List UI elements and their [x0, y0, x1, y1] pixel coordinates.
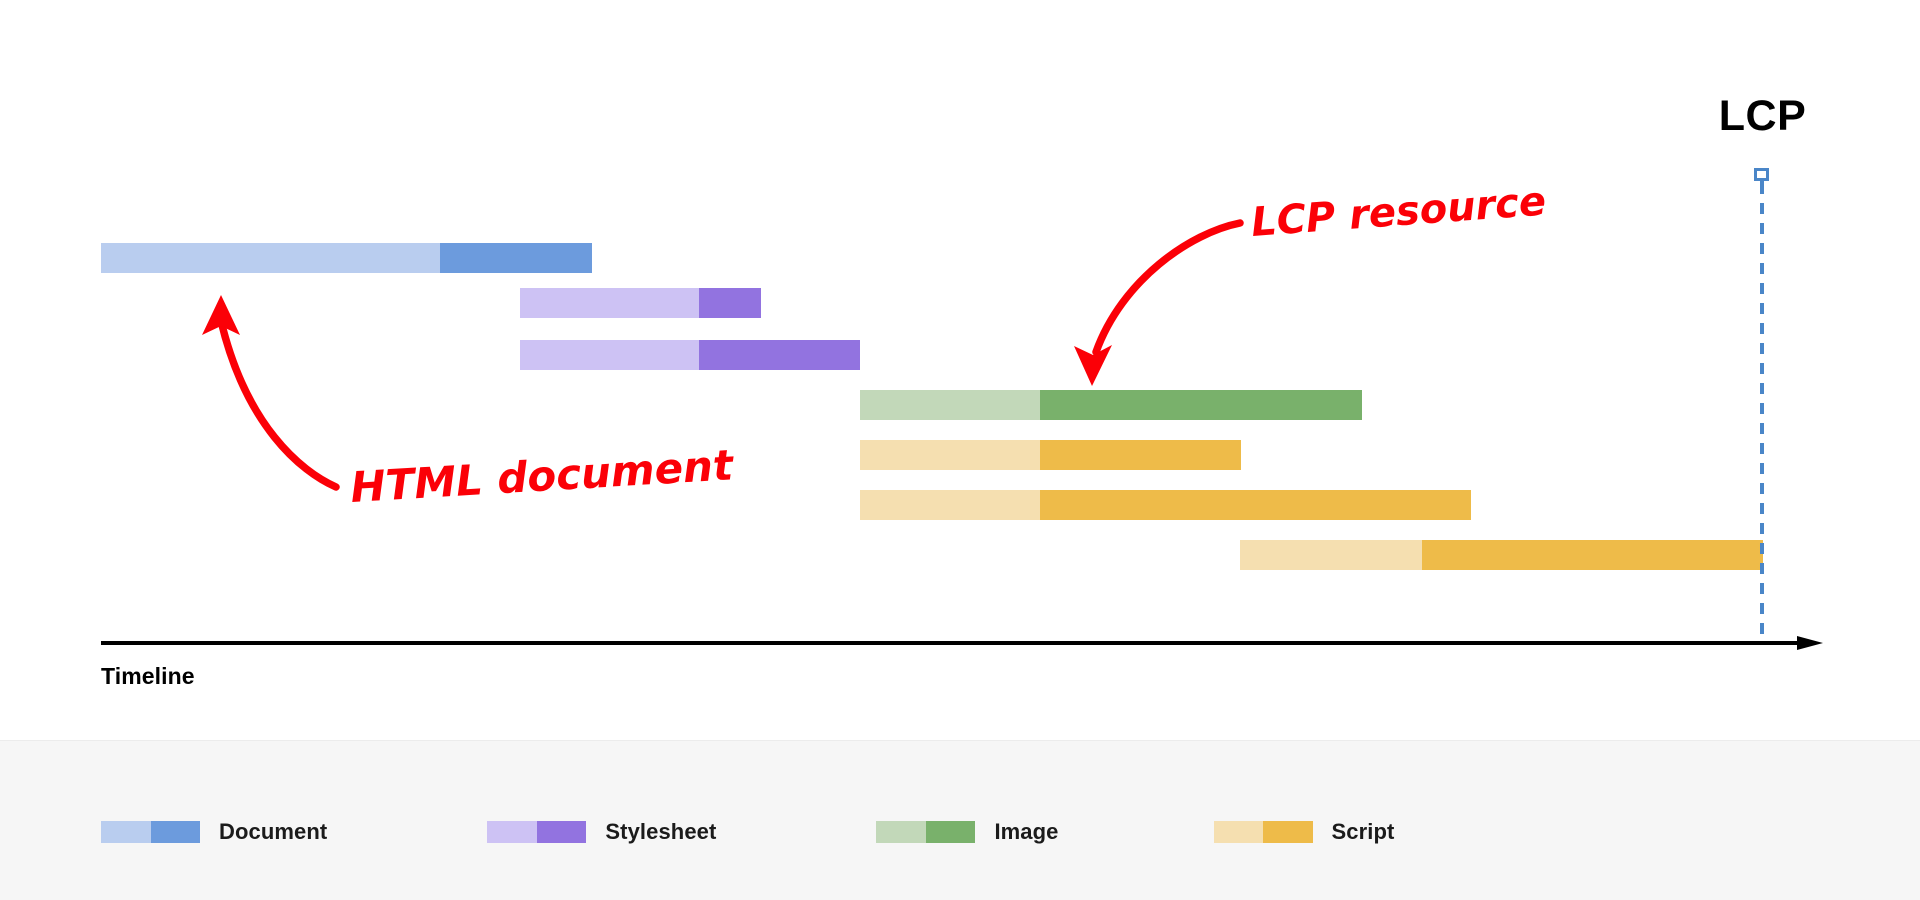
legend-swatch-light — [101, 821, 151, 843]
legend-item-stylesheet[interactable]: Stylesheet — [487, 819, 716, 845]
legend-swatch-icon — [487, 821, 586, 843]
legend-item-image[interactable]: Image — [876, 819, 1058, 845]
timeline-axis-line — [101, 641, 1801, 645]
legend-swatch-dark — [1263, 821, 1313, 843]
legend-label: Script — [1332, 819, 1395, 845]
legend-swatch-icon — [101, 821, 200, 843]
timeline-axis — [101, 637, 1822, 649]
figure-root: LCP HTML document LCP resource Timeline … — [0, 0, 1920, 900]
legend-swatch-icon — [876, 821, 975, 843]
lcp-resource-arrow-icon — [1060, 200, 1280, 410]
waterfall-bar — [520, 288, 761, 318]
waterfall-segment-wait — [860, 390, 1040, 420]
legend-swatch-dark — [926, 821, 976, 843]
legend-swatch-light — [487, 821, 537, 843]
legend-item-document[interactable]: Document — [101, 819, 327, 845]
legend-swatch-icon — [1214, 821, 1313, 843]
waterfall-bar — [1240, 540, 1763, 570]
legend-swatch-dark — [151, 821, 201, 843]
waterfall-bar — [860, 440, 1241, 470]
waterfall-segment-wait — [101, 243, 440, 273]
waterfall-segment-download — [699, 340, 860, 370]
waterfall-segment-wait — [520, 288, 699, 318]
waterfall-bar — [520, 340, 860, 370]
waterfall-segment-download — [1040, 490, 1471, 520]
legend-items: DocumentStylesheetImageScript — [101, 819, 1394, 845]
waterfall-segment-download — [1422, 540, 1763, 570]
waterfall-segment-download — [1040, 440, 1241, 470]
legend-label: Image — [994, 819, 1058, 845]
timeline-arrowhead-icon — [1797, 636, 1823, 650]
lcp-label: LCP — [1660, 92, 1865, 141]
waterfall-segment-wait — [520, 340, 699, 370]
legend-item-script[interactable]: Script — [1214, 819, 1395, 845]
waterfall-segment-wait — [860, 490, 1040, 520]
waterfall-segment-wait — [860, 440, 1040, 470]
waterfall-segment-download — [699, 288, 761, 318]
waterfall-chart-area: LCP HTML document LCP resource Timeline — [0, 0, 1920, 740]
legend-swatch-dark — [537, 821, 587, 843]
waterfall-segment-download — [440, 243, 592, 273]
legend-panel: DocumentStylesheetImageScript — [0, 740, 1920, 900]
waterfall-segment-wait — [1240, 540, 1422, 570]
lcp-dashed-line — [1760, 183, 1764, 645]
legend-swatch-light — [1214, 821, 1264, 843]
annotation-html-document: HTML document — [349, 440, 734, 512]
waterfall-bar — [860, 490, 1471, 520]
legend-swatch-light — [876, 821, 926, 843]
waterfall-bar — [101, 243, 592, 273]
timeline-axis-label: Timeline — [101, 663, 195, 690]
annotation-lcp-resource: LCP resource — [1250, 178, 1548, 246]
legend-label: Stylesheet — [605, 819, 716, 845]
legend-label: Document — [219, 819, 327, 845]
